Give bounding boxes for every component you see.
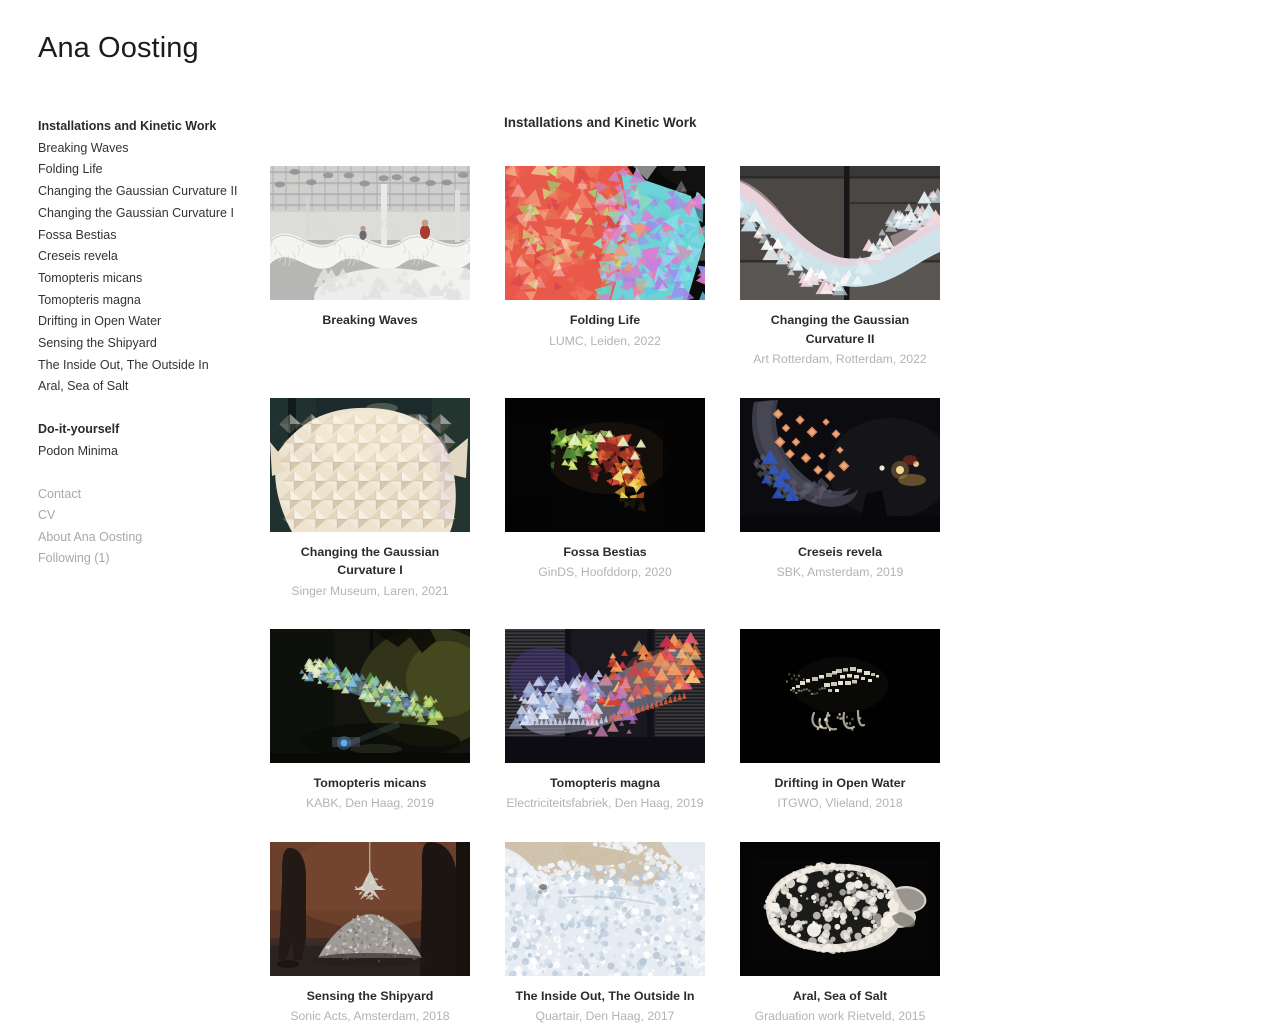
work-caption: Creseis revelaSBK, Amsterdam, 2019 bbox=[740, 543, 940, 583]
work-card[interactable]: Aral, Sea of SaltGraduation work Rietvel… bbox=[740, 842, 940, 1024]
work-title[interactable]: Breaking Waves bbox=[270, 311, 470, 330]
work-title[interactable]: Folding Life bbox=[505, 311, 705, 330]
work-subtitle: Electriciteitsfabriek, Den Haag, 2019 bbox=[505, 794, 705, 813]
work-card[interactable]: Drifting in Open WaterITGWO, Vlieland, 2… bbox=[740, 629, 940, 814]
sidebar-item-tomopteris-micans[interactable]: Tomopteris micans bbox=[38, 268, 248, 290]
work-subtitle: Art Rotterdam, Rotterdam, 2022 bbox=[740, 350, 940, 369]
work-card[interactable]: Breaking Waves bbox=[270, 166, 470, 330]
nav-group: Installations and Kinetic WorkBreaking W… bbox=[38, 116, 248, 398]
sidebar-item-drifting-in-open-water[interactable]: Drifting in Open Water bbox=[38, 311, 248, 333]
work-caption: The Inside Out, The Outside InQuartair, … bbox=[505, 987, 705, 1024]
sidebar-item-the-inside-out-the-outside-in[interactable]: The Inside Out, The Outside In bbox=[38, 355, 248, 377]
work-thumbnail-folding-life[interactable] bbox=[505, 166, 705, 300]
nav-group-heading[interactable]: Do-it-yourself bbox=[38, 419, 248, 441]
work-card[interactable]: Changing the Gaussian Curvature IIArt Ro… bbox=[740, 166, 940, 369]
work-subtitle: Singer Museum, Laren, 2021 bbox=[270, 582, 470, 601]
nav-group-heading[interactable]: Installations and Kinetic Work bbox=[38, 116, 248, 138]
work-thumbnail-gaussian-curvature-i[interactable] bbox=[270, 398, 470, 532]
work-title[interactable]: Fossa Bestias bbox=[505, 543, 705, 562]
nav-group: Do-it-yourselfPodon Minima bbox=[38, 419, 248, 462]
sidebar-item-sensing-the-shipyard[interactable]: Sensing the Shipyard bbox=[38, 333, 248, 355]
work-caption: Tomopteris magnaElectriciteitsfabriek, D… bbox=[505, 774, 705, 814]
sidebar-item-aral-sea-of-salt[interactable]: Aral, Sea of Salt bbox=[38, 376, 248, 398]
work-subtitle: GinDS, Hoofddorp, 2020 bbox=[505, 563, 705, 582]
work-caption: Changing the Gaussian Curvature IIArt Ro… bbox=[740, 311, 940, 369]
work-caption: Breaking Waves bbox=[270, 311, 470, 330]
sidebar-link-contact[interactable]: Contact bbox=[38, 484, 248, 506]
work-title[interactable]: Changing the Gaussian Curvature II bbox=[740, 311, 940, 348]
site-title: Ana Oosting bbox=[38, 30, 199, 66]
work-card[interactable]: Creseis revelaSBK, Amsterdam, 2019 bbox=[740, 398, 940, 583]
work-title[interactable]: Changing the Gaussian Curvature I bbox=[270, 543, 470, 580]
work-subtitle: LUMC, Leiden, 2022 bbox=[505, 332, 705, 351]
work-thumbnail-aral-sea-of-salt[interactable] bbox=[740, 842, 940, 976]
work-title[interactable]: Tomopteris magna bbox=[505, 774, 705, 793]
work-caption: Drifting in Open WaterITGWO, Vlieland, 2… bbox=[740, 774, 940, 814]
work-title[interactable]: Aral, Sea of Salt bbox=[740, 987, 940, 1006]
work-caption: Folding LifeLUMC, Leiden, 2022 bbox=[505, 311, 705, 351]
work-subtitle: Quartair, Den Haag, 2017 bbox=[505, 1007, 705, 1024]
work-card[interactable]: Changing the Gaussian Curvature ISinger … bbox=[270, 398, 470, 601]
work-thumbnail-creseis-revela[interactable] bbox=[740, 398, 940, 532]
work-caption: Aral, Sea of SaltGraduation work Rietvel… bbox=[740, 987, 940, 1024]
sidebar-link-cv[interactable]: CV bbox=[38, 505, 248, 527]
work-caption: Tomopteris micansKABK, Den Haag, 2019 bbox=[270, 774, 470, 814]
work-title[interactable]: Sensing the Shipyard bbox=[270, 987, 470, 1006]
sidebar-navigation: Installations and Kinetic WorkBreaking W… bbox=[38, 116, 248, 570]
work-subtitle: Sonic Acts, Amsterdam, 2018 bbox=[270, 1007, 470, 1024]
work-thumbnail-drifting-in-open-water[interactable] bbox=[740, 629, 940, 763]
work-thumbnail-the-inside-out-the-outside-in[interactable] bbox=[505, 842, 705, 976]
work-thumbnail-sensing-the-shipyard[interactable] bbox=[270, 842, 470, 976]
work-subtitle: KABK, Den Haag, 2019 bbox=[270, 794, 470, 813]
work-caption: Sensing the ShipyardSonic Acts, Amsterda… bbox=[270, 987, 470, 1024]
page-title: Installations and Kinetic Work bbox=[504, 114, 1144, 132]
work-thumbnail-tomopteris-micans[interactable] bbox=[270, 629, 470, 763]
nav-spacer bbox=[38, 398, 248, 419]
sidebar-item-folding-life[interactable]: Folding Life bbox=[38, 159, 248, 181]
work-card[interactable]: Folding LifeLUMC, Leiden, 2022 bbox=[505, 166, 705, 351]
work-title[interactable]: Tomopteris micans bbox=[270, 774, 470, 793]
sidebar-item-changing-the-gaussian-curvature-ii[interactable]: Changing the Gaussian Curvature II bbox=[38, 181, 248, 203]
work-card[interactable]: Sensing the ShipyardSonic Acts, Amsterda… bbox=[270, 842, 470, 1024]
sidebar-item-breaking-waves[interactable]: Breaking Waves bbox=[38, 138, 248, 160]
sidebar-item-tomopteris-magna[interactable]: Tomopteris magna bbox=[38, 290, 248, 312]
sidebar-item-creseis-revela[interactable]: Creseis revela bbox=[38, 246, 248, 268]
nav-spacer bbox=[38, 463, 248, 484]
work-thumbnail-gaussian-curvature-ii[interactable] bbox=[740, 166, 940, 300]
main-column: Installations and Kinetic Work bbox=[504, 114, 1144, 132]
work-title[interactable]: Drifting in Open Water bbox=[740, 774, 940, 793]
sidebar-link-following-1[interactable]: Following (1) bbox=[38, 548, 248, 570]
sidebar-item-changing-the-gaussian-curvature-i[interactable]: Changing the Gaussian Curvature I bbox=[38, 203, 248, 225]
work-caption: Changing the Gaussian Curvature ISinger … bbox=[270, 543, 470, 601]
work-thumbnail-fossa-bestias[interactable] bbox=[505, 398, 705, 532]
sidebar-item-podon-minima[interactable]: Podon Minima bbox=[38, 441, 248, 463]
work-thumbnail-breaking-waves[interactable] bbox=[270, 166, 470, 300]
work-subtitle: SBK, Amsterdam, 2019 bbox=[740, 563, 940, 582]
work-card[interactable]: Tomopteris magnaElectriciteitsfabriek, D… bbox=[505, 629, 705, 814]
work-thumbnail-tomopteris-magna[interactable] bbox=[505, 629, 705, 763]
sidebar-item-fossa-bestias[interactable]: Fossa Bestias bbox=[38, 225, 248, 247]
work-subtitle: ITGWO, Vlieland, 2018 bbox=[740, 794, 940, 813]
sidebar-link-about-ana-oosting[interactable]: About Ana Oosting bbox=[38, 527, 248, 549]
work-title[interactable]: Creseis revela bbox=[740, 543, 940, 562]
nav-secondary-group: ContactCVAbout Ana OostingFollowing (1) bbox=[38, 484, 248, 570]
work-title[interactable]: The Inside Out, The Outside In bbox=[505, 987, 705, 1006]
work-card[interactable]: The Inside Out, The Outside InQuartair, … bbox=[505, 842, 705, 1024]
work-caption: Fossa BestiasGinDS, Hoofddorp, 2020 bbox=[505, 543, 705, 583]
work-card[interactable]: Fossa BestiasGinDS, Hoofddorp, 2020 bbox=[505, 398, 705, 583]
work-subtitle: Graduation work Rietveld, 2015 bbox=[740, 1007, 940, 1024]
page-root: Ana Oosting Installations and Kinetic Wo… bbox=[0, 0, 1280, 1024]
work-card[interactable]: Tomopteris micansKABK, Den Haag, 2019 bbox=[270, 629, 470, 814]
